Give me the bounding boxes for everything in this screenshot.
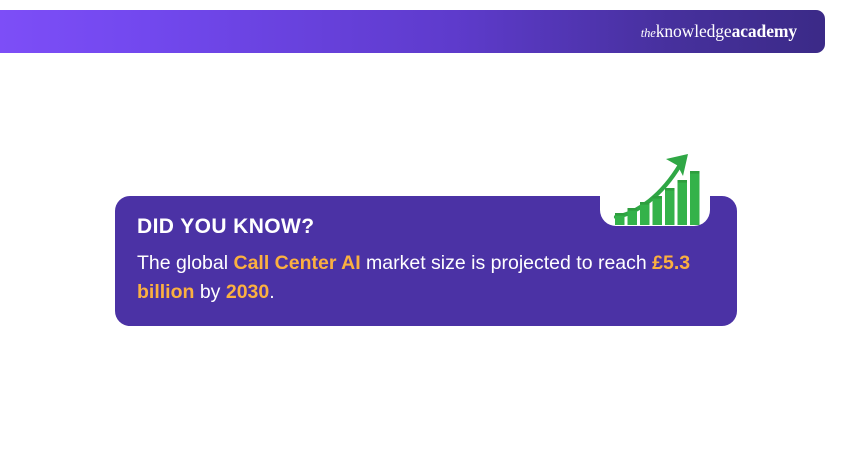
brand-logo-prefix: the <box>641 26 656 40</box>
header-brand-band: theknowledgeacademy <box>0 10 825 53</box>
body-highlight-subject: Call Center AI <box>233 252 360 274</box>
body-segment-3: by <box>194 281 225 303</box>
brand-logo-mid: knowledge <box>656 21 732 41</box>
body-segment-4: . <box>269 281 274 303</box>
body-segment-1: The global <box>137 252 233 274</box>
chart-badge-background <box>600 167 710 226</box>
brand-logo-suffix: academy <box>732 21 797 41</box>
body-highlight-year: 2030 <box>226 281 269 303</box>
body-segment-2: market size is projected to reach <box>361 252 653 274</box>
brand-logo[interactable]: theknowledgeacademy <box>641 23 825 41</box>
card-body-text: The global Call Center AI market size is… <box>137 249 711 308</box>
